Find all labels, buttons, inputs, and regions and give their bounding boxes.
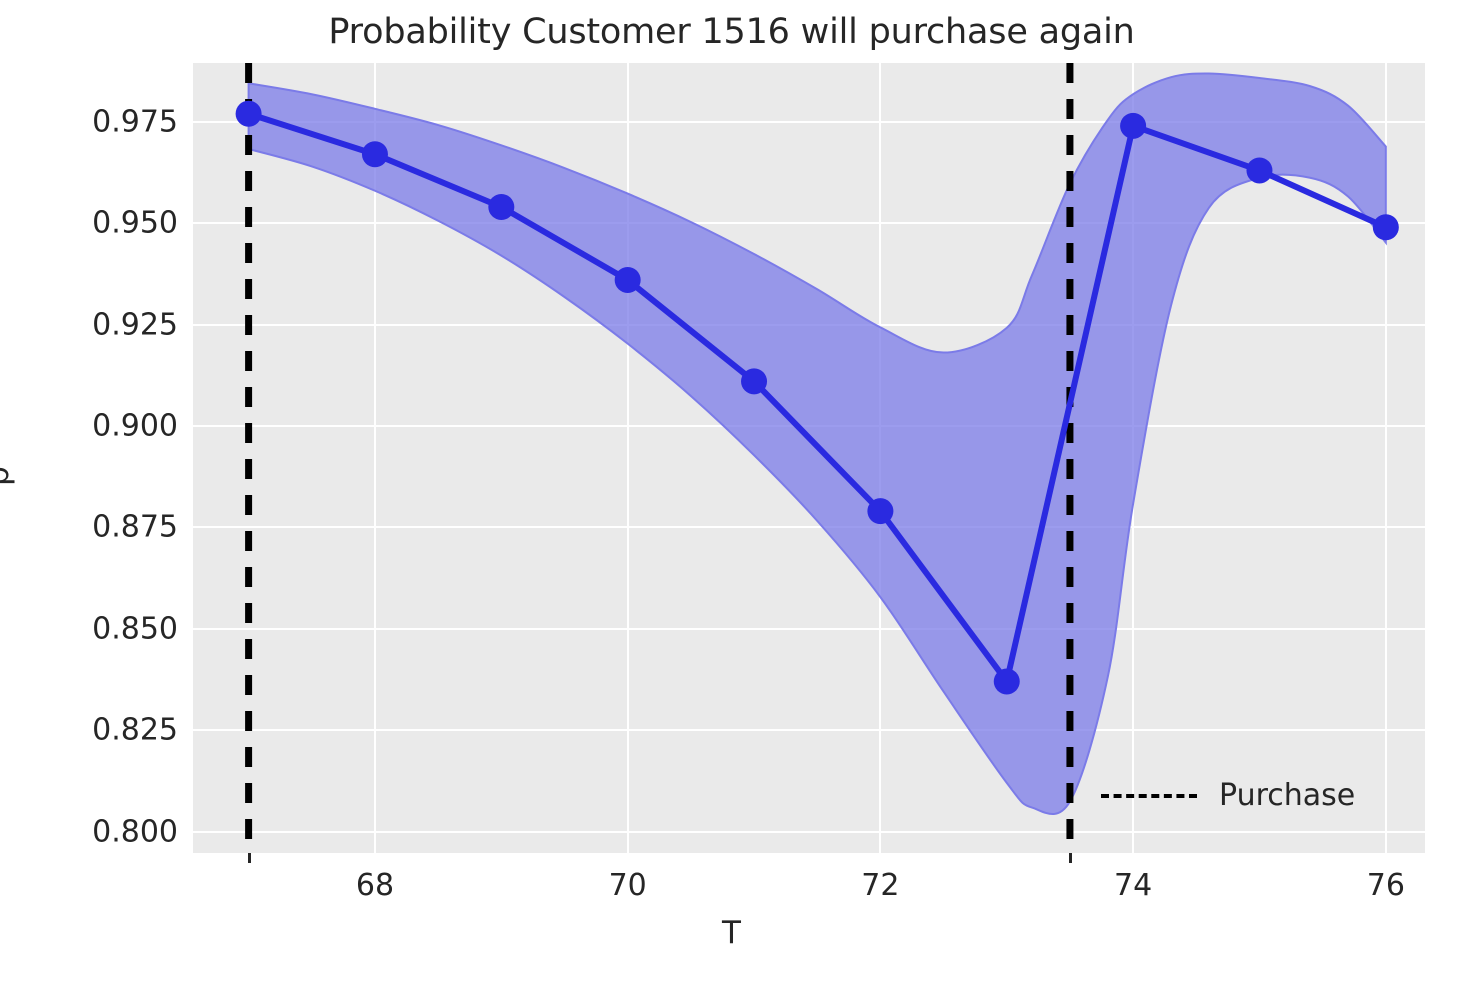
y-tick-label: 0.825 [18, 713, 178, 748]
chart-figure: Probability Customer 1516 will purchase … [0, 0, 1463, 983]
y-tick-label: 0.875 [18, 510, 178, 545]
y-tick-label: 0.950 [18, 206, 178, 241]
data-point-marker [1246, 157, 1272, 183]
data-point-marker [362, 141, 388, 167]
data-point-marker [1120, 113, 1146, 139]
x-tick-label: 72 [820, 868, 940, 903]
y-tick-label: 0.925 [18, 307, 178, 342]
plot-canvas [193, 63, 1425, 853]
x-axis-tick-mark [1069, 853, 1072, 863]
legend-dashed-line-icon [1101, 794, 1197, 798]
data-point-marker [741, 368, 767, 394]
x-tick-label: 70 [568, 868, 688, 903]
x-tick-label: 68 [315, 868, 435, 903]
legend-label-purchase: Purchase [1219, 778, 1355, 813]
x-tick-label: 76 [1326, 868, 1446, 903]
y-tick-label: 0.800 [18, 814, 178, 849]
legend: Purchase [1101, 778, 1355, 813]
chart-title: Probability Customer 1516 will purchase … [0, 12, 1463, 52]
data-point-marker [488, 194, 514, 220]
x-axis-label: T [0, 915, 1463, 951]
data-point-marker [867, 498, 893, 524]
data-point-marker [994, 668, 1020, 694]
plot-area [193, 63, 1425, 853]
x-tick-label: 74 [1073, 868, 1193, 903]
y-tick-label: 0.900 [18, 408, 178, 443]
data-point-marker [1373, 214, 1399, 240]
y-tick-label: 0.975 [18, 104, 178, 139]
data-point-marker [236, 101, 262, 127]
y-axis-label: p [0, 466, 16, 486]
x-axis-tick-mark [248, 853, 251, 863]
data-point-marker [615, 267, 641, 293]
y-tick-label: 0.850 [18, 611, 178, 646]
